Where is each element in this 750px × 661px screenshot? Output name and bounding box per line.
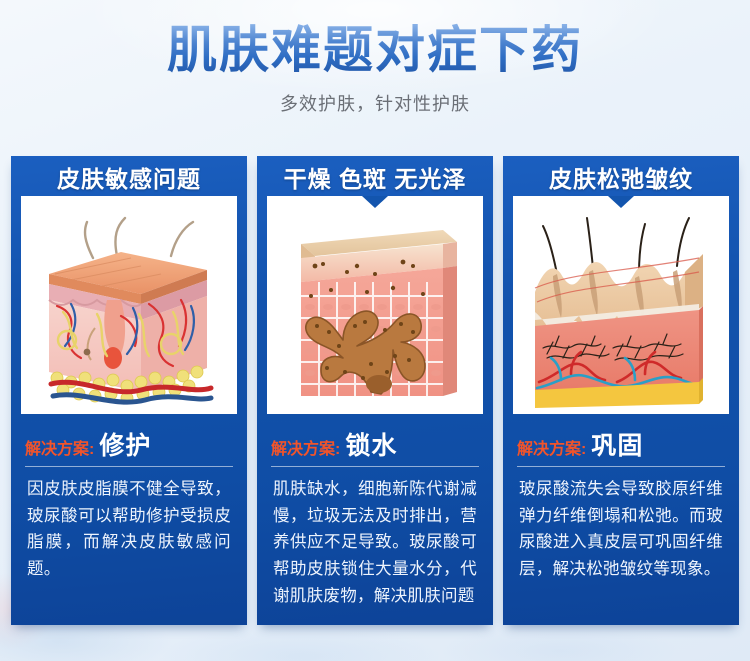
solution-row: 解决方案: 锁水 [271,426,479,467]
skin-cross-section-sensitive-icon [21,196,237,414]
page-header: 肌肤难题对症下药 多效护肤，针对性护肤 [0,0,750,116]
card-title: 干燥 色斑 无光泽 [257,156,493,196]
skin-cross-section-wrinkles-icon [513,196,729,414]
solution-label: 解决方案: [271,435,340,459]
problem-card-sensitive[interactable]: 皮肤敏感问题 [11,156,247,625]
card-image-panel [513,196,729,414]
solution-value: 锁水 [345,426,397,462]
card-image-panel [267,196,483,414]
solution-row: 解决方案: 巩固 [517,426,725,467]
card-body-text: 因皮肤皮脂膜不健全导致，玻尿酸可以帮助修护受损皮脂膜，而解决皮肤敏感问题。 [27,476,231,583]
solution-value: 修护 [99,426,151,462]
card-image-panel [21,196,237,414]
problem-card-wrinkles[interactable]: 皮肤松弛皱纹 [503,156,739,625]
card-title: 皮肤敏感问题 [11,156,247,196]
pointer-notch-icon [608,196,634,208]
solution-label: 解决方案: [517,435,586,459]
solution-label: 解决方案: [25,435,94,459]
skin-cross-section-melanocyte-icon [267,196,483,414]
page-subtitle: 多效护肤，针对性护肤 [0,90,750,116]
solution-value: 巩固 [591,426,643,462]
card-body-text: 肌肤缺水，细胞新陈代谢减慢，垃圾无法及时排出，营养供应不足导致。玻尿酸可帮助皮肤… [273,476,477,610]
card-title: 皮肤松弛皱纹 [503,156,739,196]
card-list: 皮肤敏感问题 [0,156,750,626]
pointer-notch-icon [362,196,388,208]
solution-row: 解决方案: 修护 [25,426,233,467]
card-body-text: 玻尿酸流失会导致胶原纤维弹力纤维倒塌和松弛。而玻尿酸进入真皮层可巩固纤维层，解决… [519,476,723,583]
page-title: 肌肤难题对症下药 [0,22,750,78]
problem-card-dry-spots[interactable]: 干燥 色斑 无光泽 [257,156,493,625]
